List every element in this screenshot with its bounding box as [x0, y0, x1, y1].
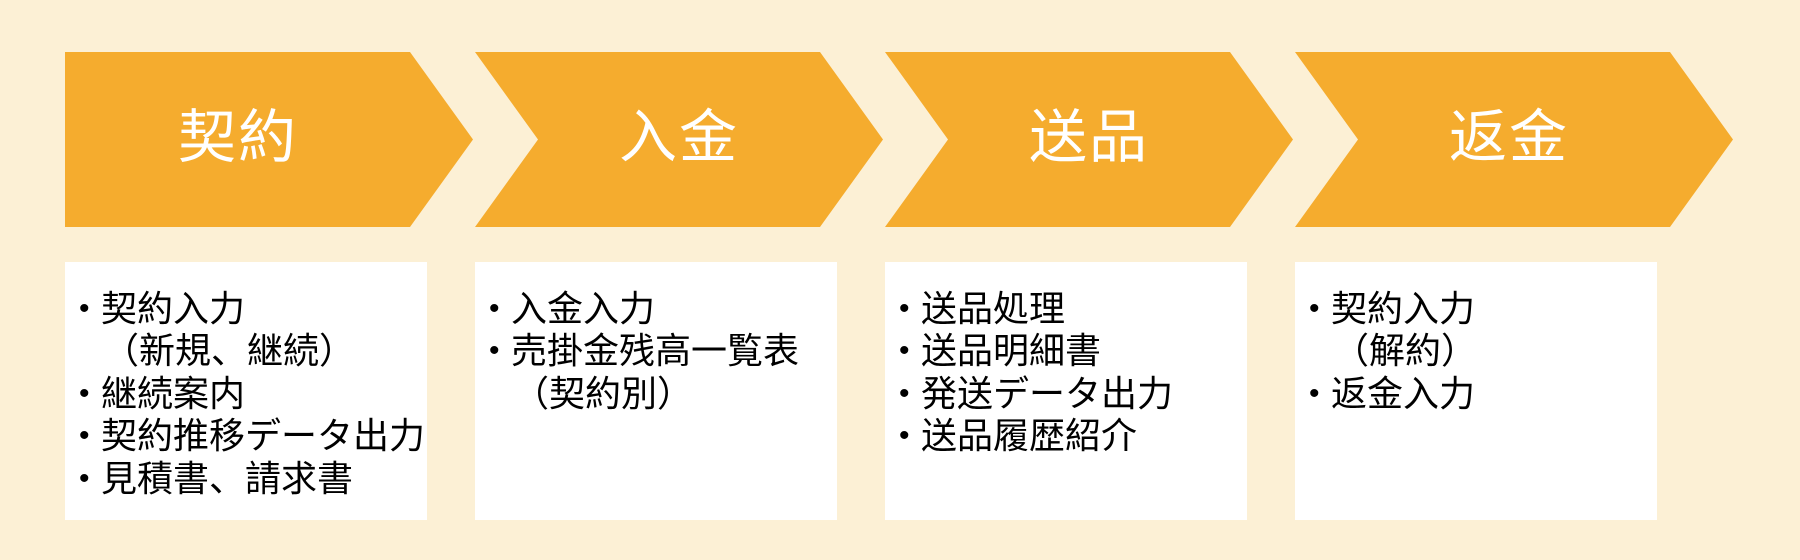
list-item: （解約）: [1307, 330, 1647, 372]
list-item: 見積書、請求書: [77, 458, 417, 500]
list-item: （新規、継続）: [77, 330, 417, 372]
list-item: （契約別）: [487, 373, 827, 415]
list-item: 送品履歴紹介: [897, 415, 1237, 457]
list-item: 契約入力: [1307, 288, 1647, 330]
stage-label-4: 返金: [1449, 109, 1569, 167]
bullet-list-4: 契約入力 （解約） 返金入力: [1307, 288, 1647, 415]
stage-label-2: 入金: [619, 109, 739, 167]
stage-detail-box-3: 送品処理 送品明細書 発送データ出力 送品履歴紹介: [885, 262, 1247, 520]
process-flow-diagram: 契約 入金 送品 返金 契約入力 （新規、継続） 継続案内 契約推移データ出力 …: [0, 0, 1800, 560]
list-item: 契約推移データ出力: [77, 415, 417, 457]
stage-header-band: 契約 入金 送品 返金: [65, 52, 1733, 227]
stage-label-3: 送品: [1029, 109, 1149, 167]
stage-detail-band: 契約入力 （新規、継続） 継続案内 契約推移データ出力 見積書、請求書 入金入力…: [65, 262, 1733, 520]
stage-chevron-1[interactable]: 契約: [65, 52, 473, 227]
bullet-list-1: 契約入力 （新規、継続） 継続案内 契約推移データ出力 見積書、請求書: [77, 288, 417, 500]
stage-chevron-3[interactable]: 送品: [885, 52, 1293, 227]
list-item: 売掛金残高一覧表: [487, 330, 827, 372]
stage-chevron-2[interactable]: 入金: [475, 52, 883, 227]
list-item: 入金入力: [487, 288, 827, 330]
list-item: 発送データ出力: [897, 373, 1237, 415]
stage-chevron-4[interactable]: 返金: [1295, 52, 1733, 227]
bullet-list-2: 入金入力 売掛金残高一覧表 （契約別）: [487, 288, 827, 415]
bullet-list-3: 送品処理 送品明細書 発送データ出力 送品履歴紹介: [897, 288, 1237, 458]
stage-detail-box-1: 契約入力 （新規、継続） 継続案内 契約推移データ出力 見積書、請求書: [65, 262, 427, 520]
list-item: 送品処理: [897, 288, 1237, 330]
list-item: 継続案内: [77, 373, 417, 415]
stage-label-1: 契約: [178, 109, 298, 167]
stage-detail-box-4: 契約入力 （解約） 返金入力: [1295, 262, 1657, 520]
list-item: 契約入力: [77, 288, 417, 330]
list-item: 返金入力: [1307, 373, 1647, 415]
list-item: 送品明細書: [897, 330, 1237, 372]
stage-detail-box-2: 入金入力 売掛金残高一覧表 （契約別）: [475, 262, 837, 520]
